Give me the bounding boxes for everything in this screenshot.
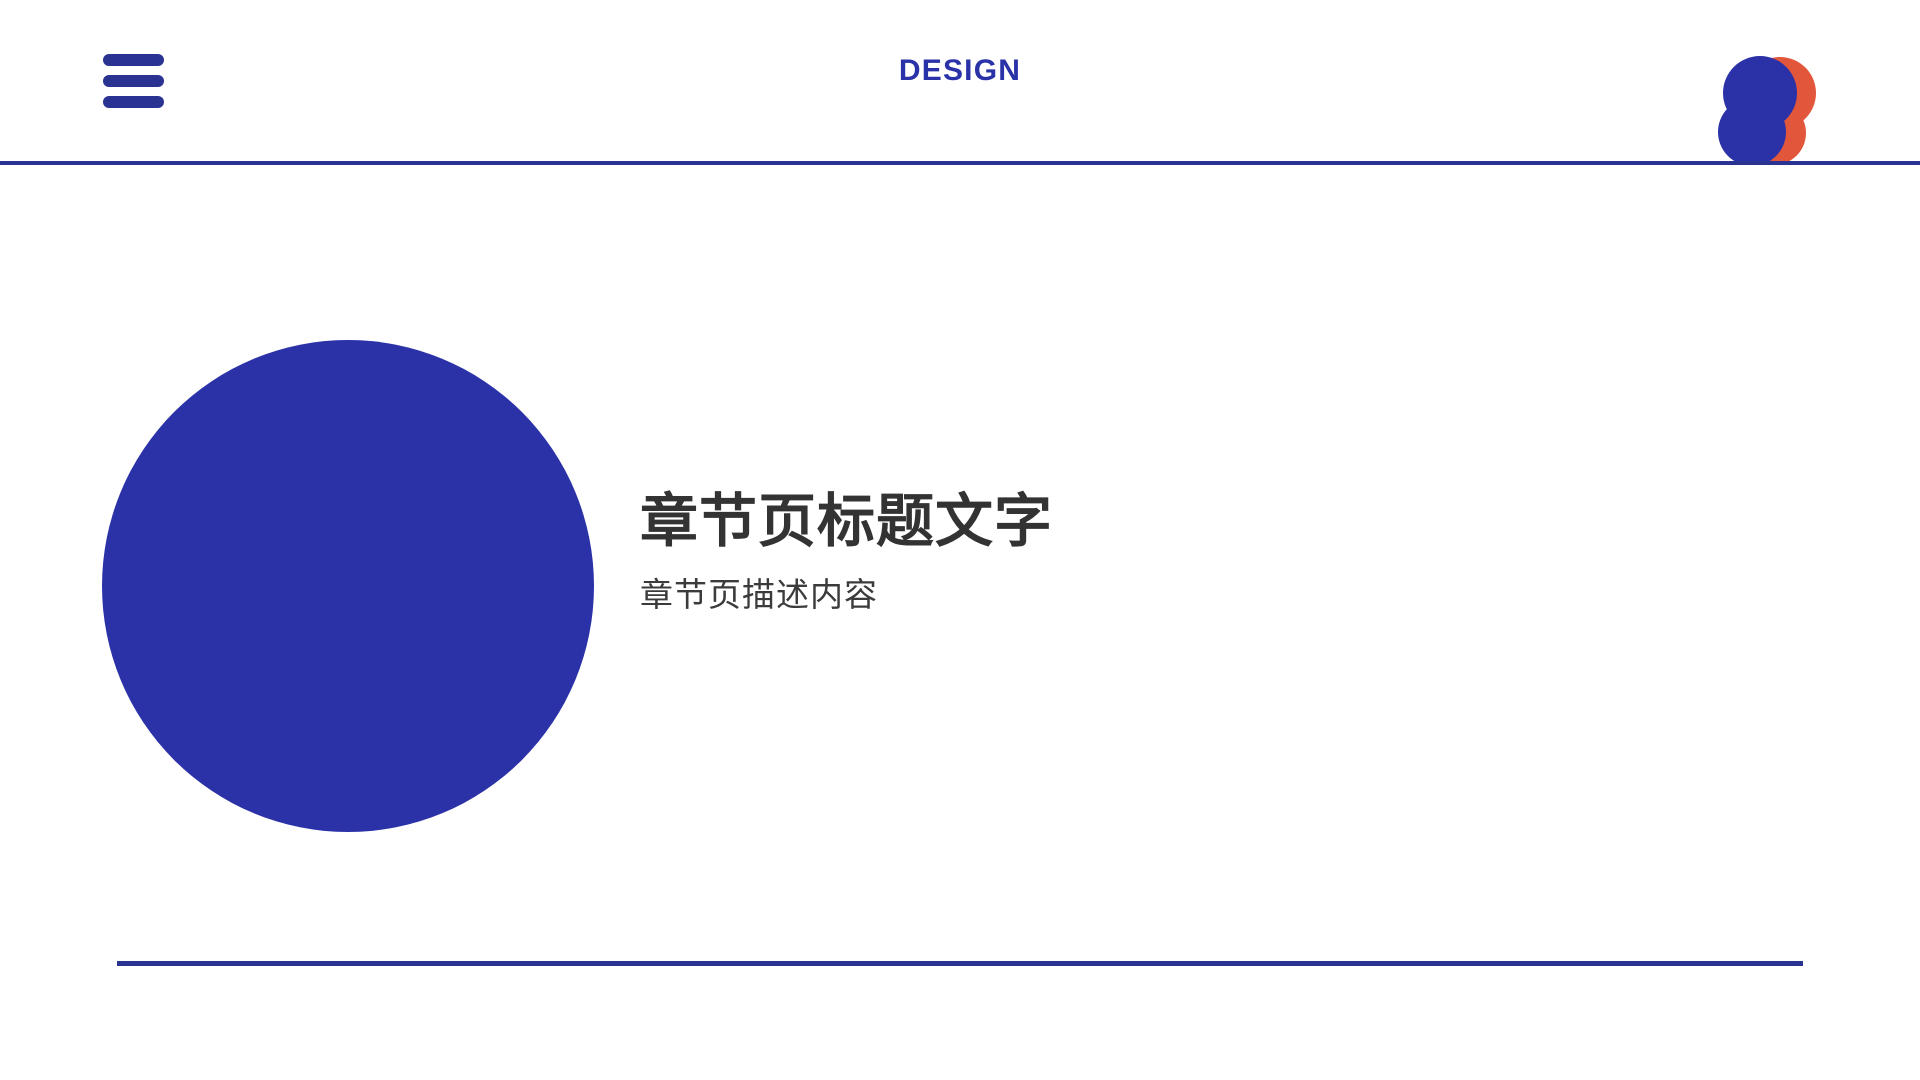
- logo-blue-circle-bottom: [1718, 98, 1786, 163]
- hamburger-bar-3: [103, 96, 164, 108]
- slide-canvas: DESIGN 章节页标题文字 章节页描述内容: [0, 0, 1920, 1080]
- header-title: DESIGN: [0, 52, 1920, 90]
- decorative-circle: [102, 340, 594, 832]
- header-divider: [0, 161, 1920, 165]
- brand-logo-icon[interactable]: [1712, 30, 1832, 163]
- page-title: 章节页标题文字: [640, 485, 1540, 559]
- section-text-block: 章节页标题文字 章节页描述内容: [640, 485, 1540, 617]
- footer-divider: [117, 961, 1803, 966]
- brand-logo-shapes: [1712, 30, 1832, 163]
- slide-header: DESIGN: [0, 0, 1920, 163]
- page-description: 章节页描述内容: [640, 573, 1540, 617]
